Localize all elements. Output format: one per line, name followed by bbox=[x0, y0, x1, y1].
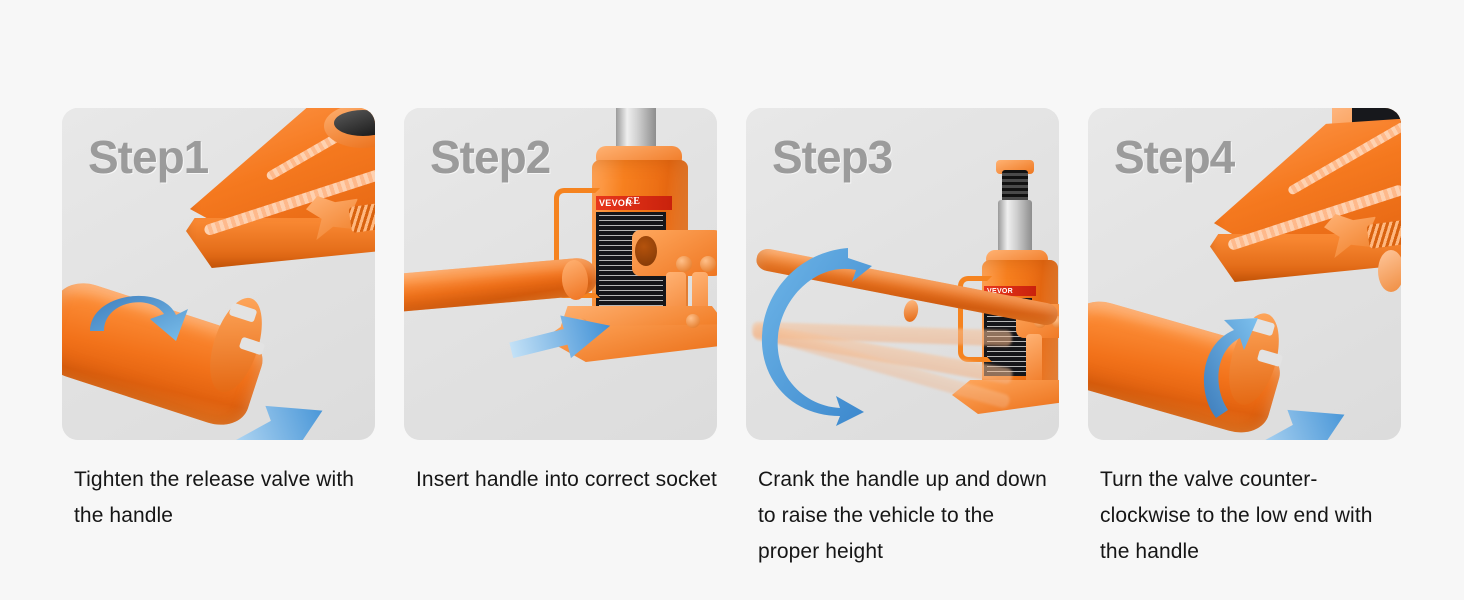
step-label-4: Step4 bbox=[1114, 130, 1234, 184]
steps-row: Step1 bbox=[62, 108, 1402, 570]
base-bolt-2 bbox=[686, 314, 700, 328]
step-label-2: Step2 bbox=[430, 130, 550, 184]
release-valve-screw bbox=[348, 201, 375, 233]
insert-direction-arrow bbox=[1246, 408, 1356, 440]
step-column-3: Step3 VEVOR bbox=[746, 108, 1059, 570]
step-column-1: Step1 bbox=[62, 108, 375, 570]
step-caption-2: Insert handle into correct socket bbox=[404, 462, 717, 498]
crank-arc-arrow bbox=[752, 236, 892, 436]
socket-hole bbox=[635, 236, 657, 266]
socket-bolt-2 bbox=[700, 256, 716, 272]
step-column-4: Step4 SN:2001 1498024 bbox=[1088, 108, 1401, 570]
jack-extension-ram bbox=[998, 200, 1032, 256]
jack-thread-screw bbox=[1002, 170, 1028, 204]
base-bolt-head bbox=[1378, 250, 1401, 292]
step-caption-3: Crank the handle up and down to raise th… bbox=[746, 462, 1059, 570]
socket-bolt-1 bbox=[676, 256, 692, 272]
step-panel-3: Step3 VEVOR bbox=[746, 108, 1059, 440]
insert-direction-arrow bbox=[224, 404, 334, 440]
step-panel-2: Step2 VEVOR CE bbox=[404, 108, 717, 440]
release-valve-screw bbox=[1367, 219, 1401, 249]
insert-direction-arrow bbox=[510, 316, 616, 362]
instruction-board: Step1 bbox=[0, 0, 1464, 600]
step-label-1: Step1 bbox=[88, 130, 208, 184]
step-panel-1: Step1 bbox=[62, 108, 375, 440]
handle-bar-joint bbox=[902, 299, 920, 323]
rotation-arrow-clockwise bbox=[84, 273, 204, 353]
ce-mark: CE bbox=[626, 196, 640, 207]
step-caption-1: Tighten the release valve with the handl… bbox=[62, 462, 375, 534]
step-label-3: Step3 bbox=[772, 130, 892, 184]
step-caption-4: Turn the valve counter-clockwise to the … bbox=[1088, 462, 1401, 570]
step-column-2: Step2 VEVOR CE bbox=[404, 108, 717, 570]
step-panel-4: Step4 SN:2001 1498024 bbox=[1088, 108, 1401, 440]
